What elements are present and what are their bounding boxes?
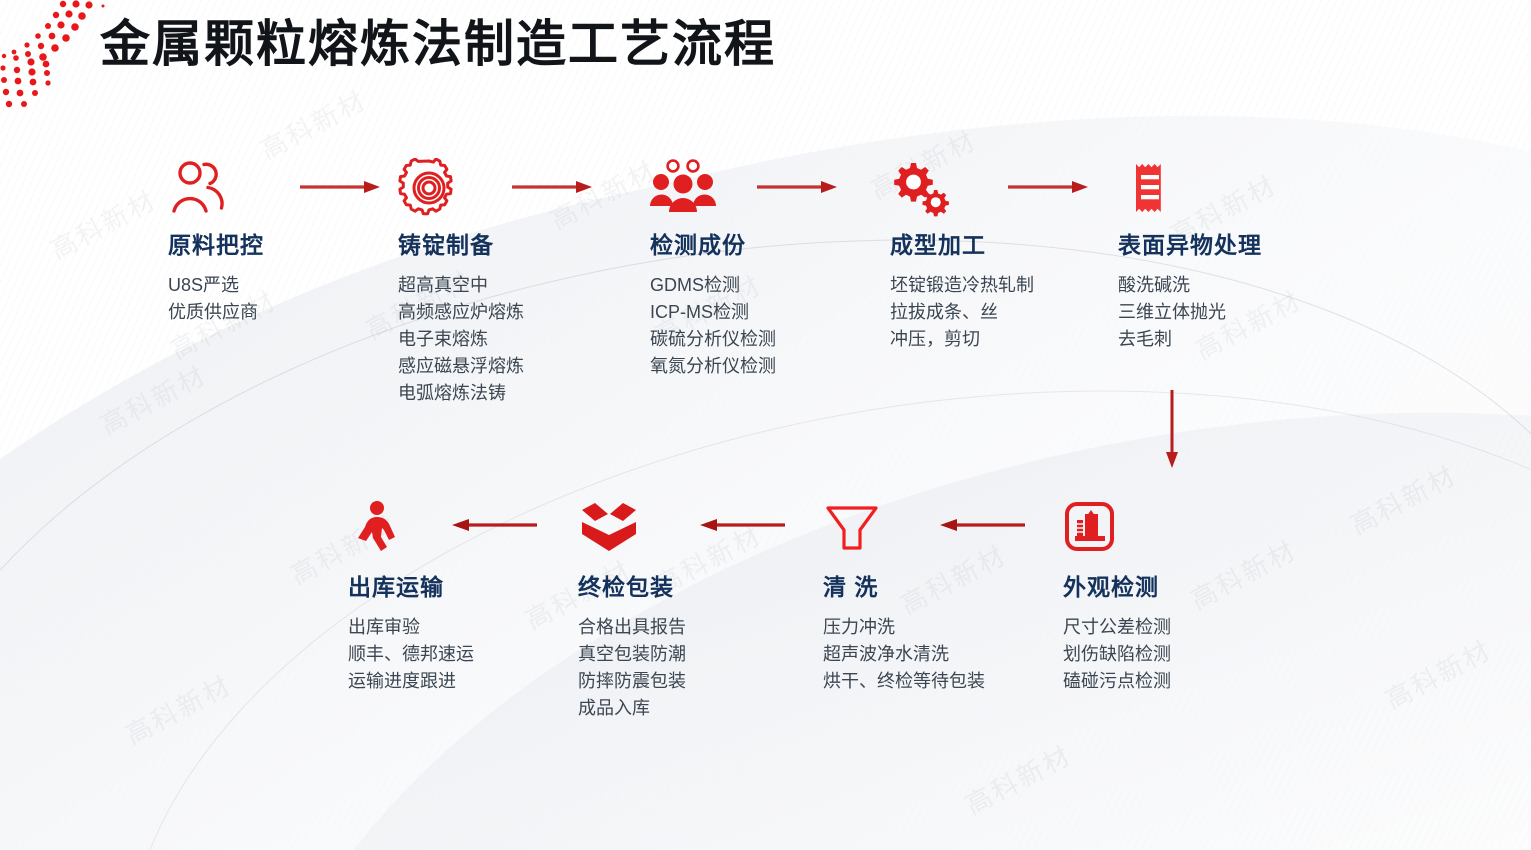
detail-line: 合格出具报告 bbox=[578, 614, 686, 641]
detail-line: 优质供应商 bbox=[168, 299, 264, 326]
detail-line: 出库审验 bbox=[348, 614, 474, 641]
detail-line: 尺寸公差检测 bbox=[1063, 614, 1171, 641]
detail-line: 冲压，剪切 bbox=[890, 326, 1034, 353]
detail-line: GDMS检测 bbox=[650, 272, 776, 299]
document-stack-icon bbox=[1118, 158, 1180, 218]
detail-line: 真空包装防潮 bbox=[578, 641, 686, 668]
detail-line: 感应磁悬浮熔炼 bbox=[398, 353, 524, 380]
arrow-left-1-icon bbox=[452, 518, 537, 532]
gear-concentric-icon bbox=[398, 158, 460, 218]
node-title: 出库运输 bbox=[348, 568, 474, 602]
detail-line: 电弧熔炼法铸 bbox=[398, 380, 524, 407]
detail-line: 压力冲洗 bbox=[823, 614, 985, 641]
node-details: 坯锭锻造冷热轧制 拉拔成条、丝 冲压，剪切 bbox=[890, 272, 1034, 353]
detail-line: 电子束熔炼 bbox=[398, 326, 524, 353]
node-title: 清 洗 bbox=[823, 568, 985, 602]
arrow-left-2-icon bbox=[700, 518, 785, 532]
detail-line: 去毛刺 bbox=[1118, 326, 1262, 353]
detail-line: 顺丰、德邦速运 bbox=[348, 641, 474, 668]
detail-line: 划伤缺陷检测 bbox=[1063, 641, 1171, 668]
node-details: 出库审验 顺丰、德邦速运 运输进度跟进 bbox=[348, 614, 474, 695]
node-title: 成型加工 bbox=[890, 226, 1034, 260]
watermark: 高科新材 bbox=[253, 80, 373, 167]
detail-line: 成品入库 bbox=[578, 695, 686, 722]
node-details: GDMS检测 ICP-MS检测 碳硫分析仪检测 氧氮分析仪检测 bbox=[650, 272, 776, 380]
page-title: 金属颗粒熔炼法制造工艺流程 bbox=[100, 4, 776, 76]
detail-line: 磕碰污点检测 bbox=[1063, 668, 1171, 695]
detail-line: 碳硫分析仪检测 bbox=[650, 326, 776, 353]
detail-line: 超高真空中 bbox=[398, 272, 524, 299]
background-stripe-texture bbox=[0, 0, 1531, 850]
background-arc-line-2 bbox=[60, 286, 1531, 850]
watermark: 高科新材 bbox=[958, 735, 1078, 822]
watermark: 高科新材 bbox=[1378, 630, 1498, 717]
arrow-right-4-icon bbox=[1008, 180, 1088, 194]
two-gears-icon bbox=[890, 158, 952, 218]
detail-line: ICP-MS检测 bbox=[650, 299, 776, 326]
node-details: U8S严选 优质供应商 bbox=[168, 272, 264, 326]
detail-line: 酸洗碱洗 bbox=[1118, 272, 1262, 299]
detail-line: 坯锭锻造冷热轧制 bbox=[890, 272, 1034, 299]
watermark: 高科新材 bbox=[1343, 455, 1463, 542]
detail-line: 高频感应炉熔炼 bbox=[398, 299, 524, 326]
arrow-down-wrap-icon bbox=[1165, 390, 1179, 468]
node-title: 表面异物处理 bbox=[1118, 226, 1262, 260]
two-people-outline-icon bbox=[168, 158, 230, 218]
arrow-left-3-icon bbox=[940, 518, 1025, 532]
detail-line: 超声波净水清洗 bbox=[823, 641, 985, 668]
node-title: 检测成份 bbox=[650, 226, 776, 260]
arrow-right-3-icon bbox=[757, 180, 837, 194]
watermark: 高科新材 bbox=[1183, 530, 1303, 617]
node-details: 压力冲洗 超声波净水清洗 烘干、终检等待包装 bbox=[823, 614, 985, 695]
detail-line: 三维立体抛光 bbox=[1118, 299, 1262, 326]
arrow-right-2-icon bbox=[512, 180, 592, 194]
arrow-right-1-icon bbox=[300, 180, 380, 194]
node-details: 尺寸公差检测 划伤缺陷检测 磕碰污点检测 bbox=[1063, 614, 1171, 695]
detail-line: 运输进度跟进 bbox=[348, 668, 474, 695]
flow-node-appearance-inspection[interactable]: 外观检测 尺寸公差检测 划伤缺陷检测 磕碰污点检测 bbox=[1063, 500, 1171, 695]
watermark: 高科新材 bbox=[43, 180, 163, 267]
flow-node-surface-foreign-matter-treatment[interactable]: 表面异物处理 酸洗碱洗 三维立体抛光 去毛刺 bbox=[1118, 158, 1262, 353]
detail-line: 烘干、终检等待包装 bbox=[823, 668, 985, 695]
node-title: 铸锭制备 bbox=[398, 226, 524, 260]
detail-line: 防摔防震包装 bbox=[578, 668, 686, 695]
flow-node-final-inspection-packaging[interactable]: 终检包装 合格出具报告 真空包装防潮 防摔防震包装 成品入库 bbox=[578, 500, 686, 722]
open-box-icon bbox=[578, 500, 640, 560]
node-title: 终检包装 bbox=[578, 568, 686, 602]
flow-node-ingot-preparation[interactable]: 铸锭制备 超高真空中 高频感应炉熔炼 电子束熔炼 感应磁悬浮熔炼 电弧熔炼法铸 bbox=[398, 158, 524, 407]
watermark: 高科新材 bbox=[93, 355, 213, 442]
node-title: 外观检测 bbox=[1063, 568, 1171, 602]
flow-node-raw-material-control[interactable]: 原料把控 U8S严选 优质供应商 bbox=[168, 158, 264, 326]
node-details: 合格出具报告 真空包装防潮 防摔防震包装 成品入库 bbox=[578, 614, 686, 722]
watermark: 高科新材 bbox=[118, 665, 238, 752]
funnel-icon bbox=[823, 500, 881, 560]
detail-line: U8S严选 bbox=[168, 272, 264, 299]
detail-line: 氧氮分析仪检测 bbox=[650, 353, 776, 380]
people-group-icon bbox=[650, 158, 716, 218]
node-title: 原料把控 bbox=[168, 226, 264, 260]
slide-canvas: 高科新材 高科新材 高科新材 高科新材 高科新材 高科新材 高科新材 高科新材 … bbox=[0, 0, 1531, 850]
background-swoosh-shape bbox=[0, 0, 1531, 850]
detail-line: 拉拔成条、丝 bbox=[890, 299, 1034, 326]
walking-person-icon bbox=[348, 500, 406, 560]
factory-badge-icon bbox=[1063, 500, 1121, 560]
node-details: 酸洗碱洗 三维立体抛光 去毛刺 bbox=[1118, 272, 1262, 353]
node-details: 超高真空中 高频感应炉熔炼 电子束熔炼 感应磁悬浮熔炼 电弧熔炼法铸 bbox=[398, 272, 524, 407]
